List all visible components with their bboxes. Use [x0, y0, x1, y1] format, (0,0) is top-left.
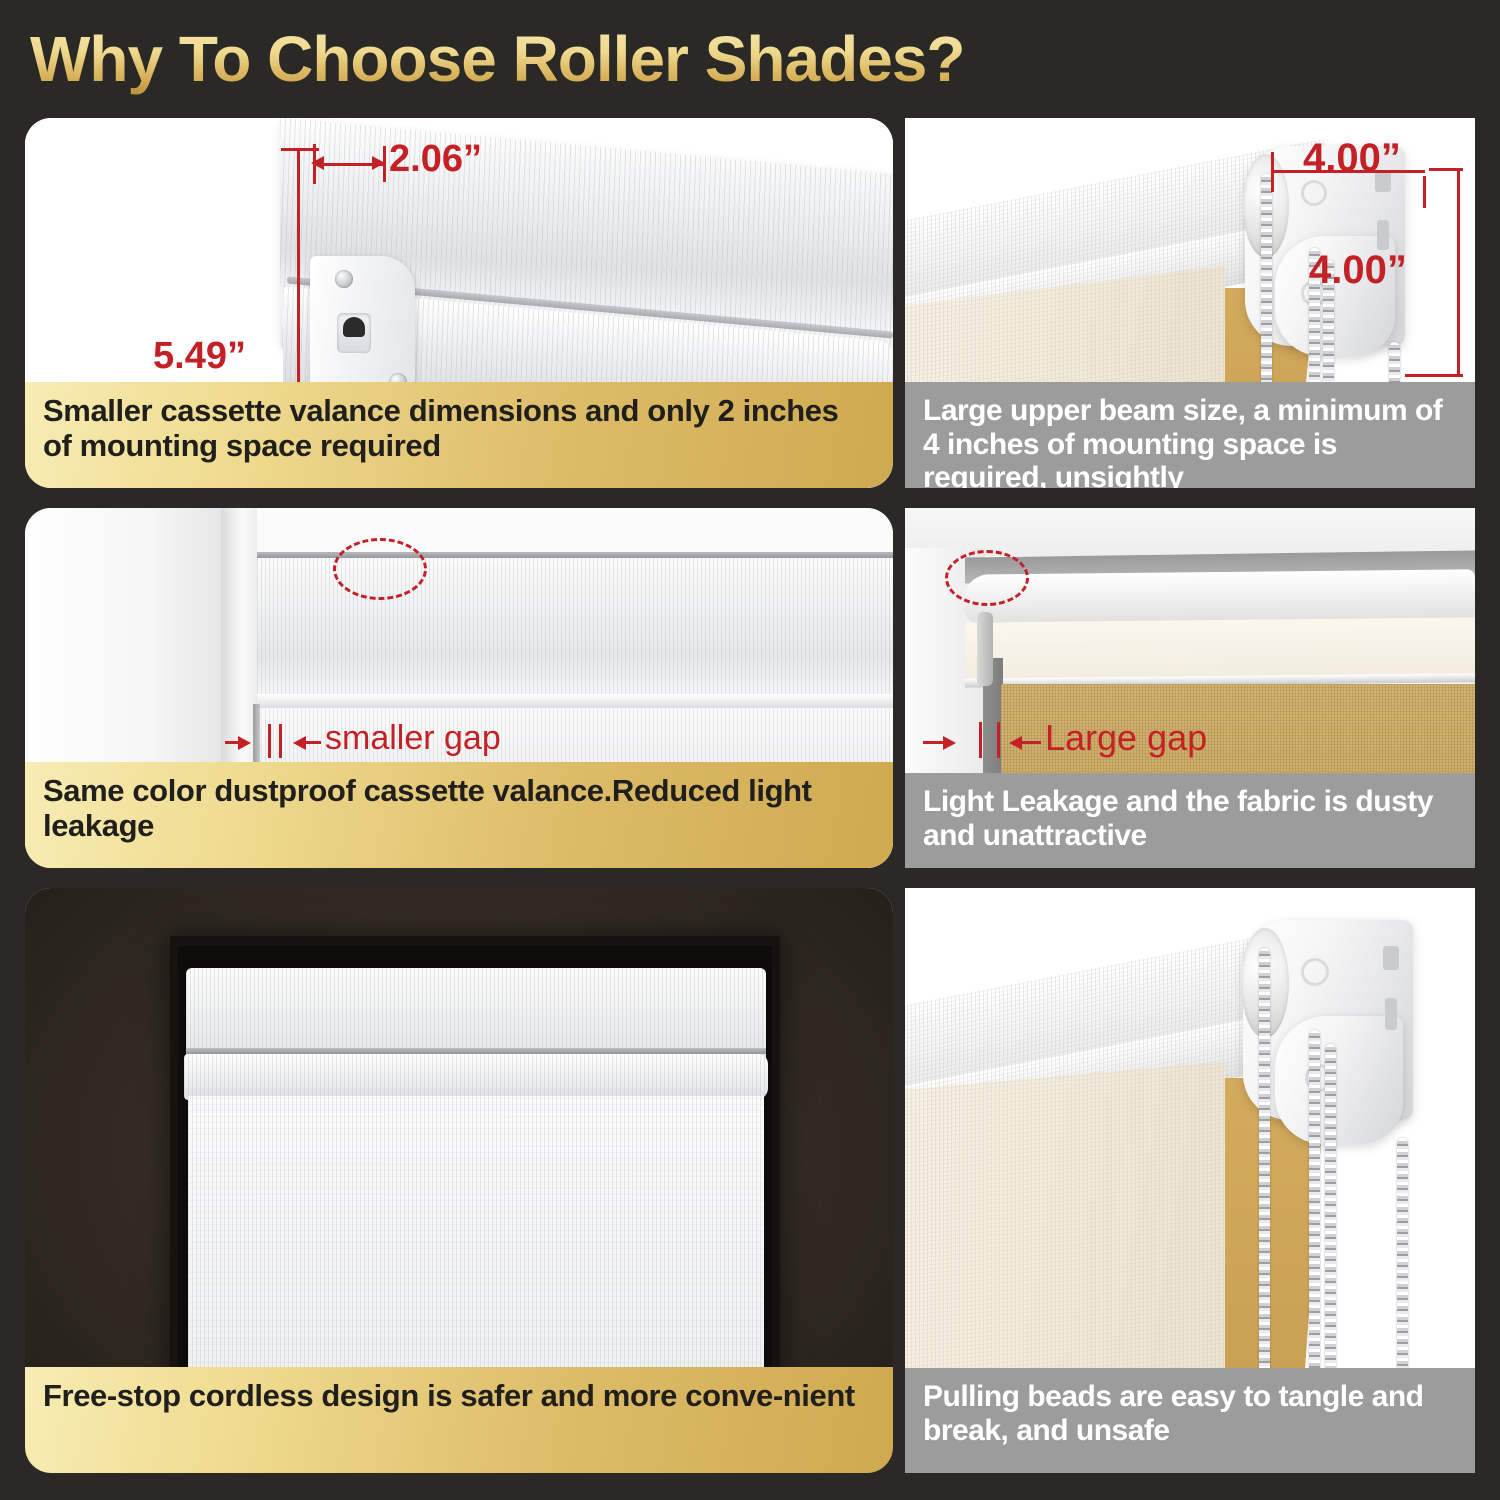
beam-dimension-cap-top [1429, 168, 1463, 171]
panel-6-caption: Pulling beads are easy to tangle and bre… [905, 1368, 1475, 1473]
gap-arrow-left-tail [225, 741, 241, 744]
beam-dimension-cap-bottom [1405, 374, 1463, 377]
bracket-notch-a [1383, 946, 1399, 970]
comparison-grid: 2.06” 5.49” Smaller cassette valance dim… [0, 0, 1500, 1500]
endcap-slot [337, 313, 371, 353]
bracket-notch-b [1385, 998, 1397, 1030]
panel-smaller-cassette: 2.06” 5.49” Smaller cassette valance dim… [25, 118, 893, 488]
bead-chain-1 [1261, 174, 1272, 399]
gap-tick-b [279, 724, 282, 758]
beam-dimension-label-width: 4.00” [1303, 136, 1401, 181]
panel-dustproof-valance: smaller gap Same color dustproof cassett… [25, 508, 893, 868]
mounting-bracket-lower [1275, 1016, 1403, 1144]
panel-2-caption: Large upper beam size, a minimum of 4 in… [905, 382, 1475, 488]
panel-4-caption: Light Leakage and the fabric is dusty an… [905, 773, 1475, 868]
gap-tick-a [268, 724, 271, 758]
wall-surface [905, 508, 1475, 556]
bracket-pin [977, 612, 993, 686]
gap-label: Large gap [1045, 717, 1207, 759]
gap-arrow-right-tail [1021, 741, 1041, 744]
window-opening [170, 936, 780, 1441]
beam-dimension-line-height [1457, 168, 1460, 376]
panel-large-upper-beam: 4.00” 4.00” Large upper beam size, a min… [905, 118, 1475, 488]
panel-pulling-beads: Pulling beads are easy to tangle and bre… [905, 888, 1475, 1473]
shade-headrail [186, 968, 766, 1060]
valance-face [965, 617, 1475, 682]
gap-tick-a [979, 722, 982, 758]
bracket-ring-a [1301, 958, 1329, 986]
panel-light-leakage: Large gap Light Leakage and the fabric i… [905, 508, 1475, 868]
dimension-arrow-width-left [311, 156, 324, 170]
beam-dimension-label-height: 4.00” [1309, 248, 1407, 293]
gap-arrow-right-tail [305, 741, 321, 744]
beam-dimension-tick-left [1271, 152, 1274, 192]
gap-label: smaller gap [325, 719, 501, 758]
panel-3-caption: Same color dustproof cassette valance.Re… [25, 762, 893, 868]
highlight-circle-icon [945, 550, 1029, 606]
gap-arrow-left-tail [923, 741, 947, 744]
endcap-screw-top [335, 270, 353, 288]
bracket-notch-b [1377, 220, 1389, 250]
panel-1-caption: Smaller cassette valance dimensions and … [25, 382, 893, 488]
panel-5-caption: Free-stop cordless design is safer and m… [25, 1367, 893, 1473]
dimension-label-width: 2.06” [389, 138, 482, 181]
highlight-circle-icon [333, 538, 427, 600]
beam-dimension-tick-right [1423, 176, 1426, 208]
shade-headrail-lip [184, 1054, 768, 1100]
dimension-arrow-width-right [372, 156, 385, 170]
bracket-ring-a [1301, 180, 1327, 206]
gap-tick-b [997, 722, 1000, 758]
dimension-cap-height-top [281, 148, 319, 151]
panel-cordless-design: Free-stop cordless design is safer and m… [25, 888, 893, 1473]
dimension-label-height: 5.49” [153, 335, 246, 378]
